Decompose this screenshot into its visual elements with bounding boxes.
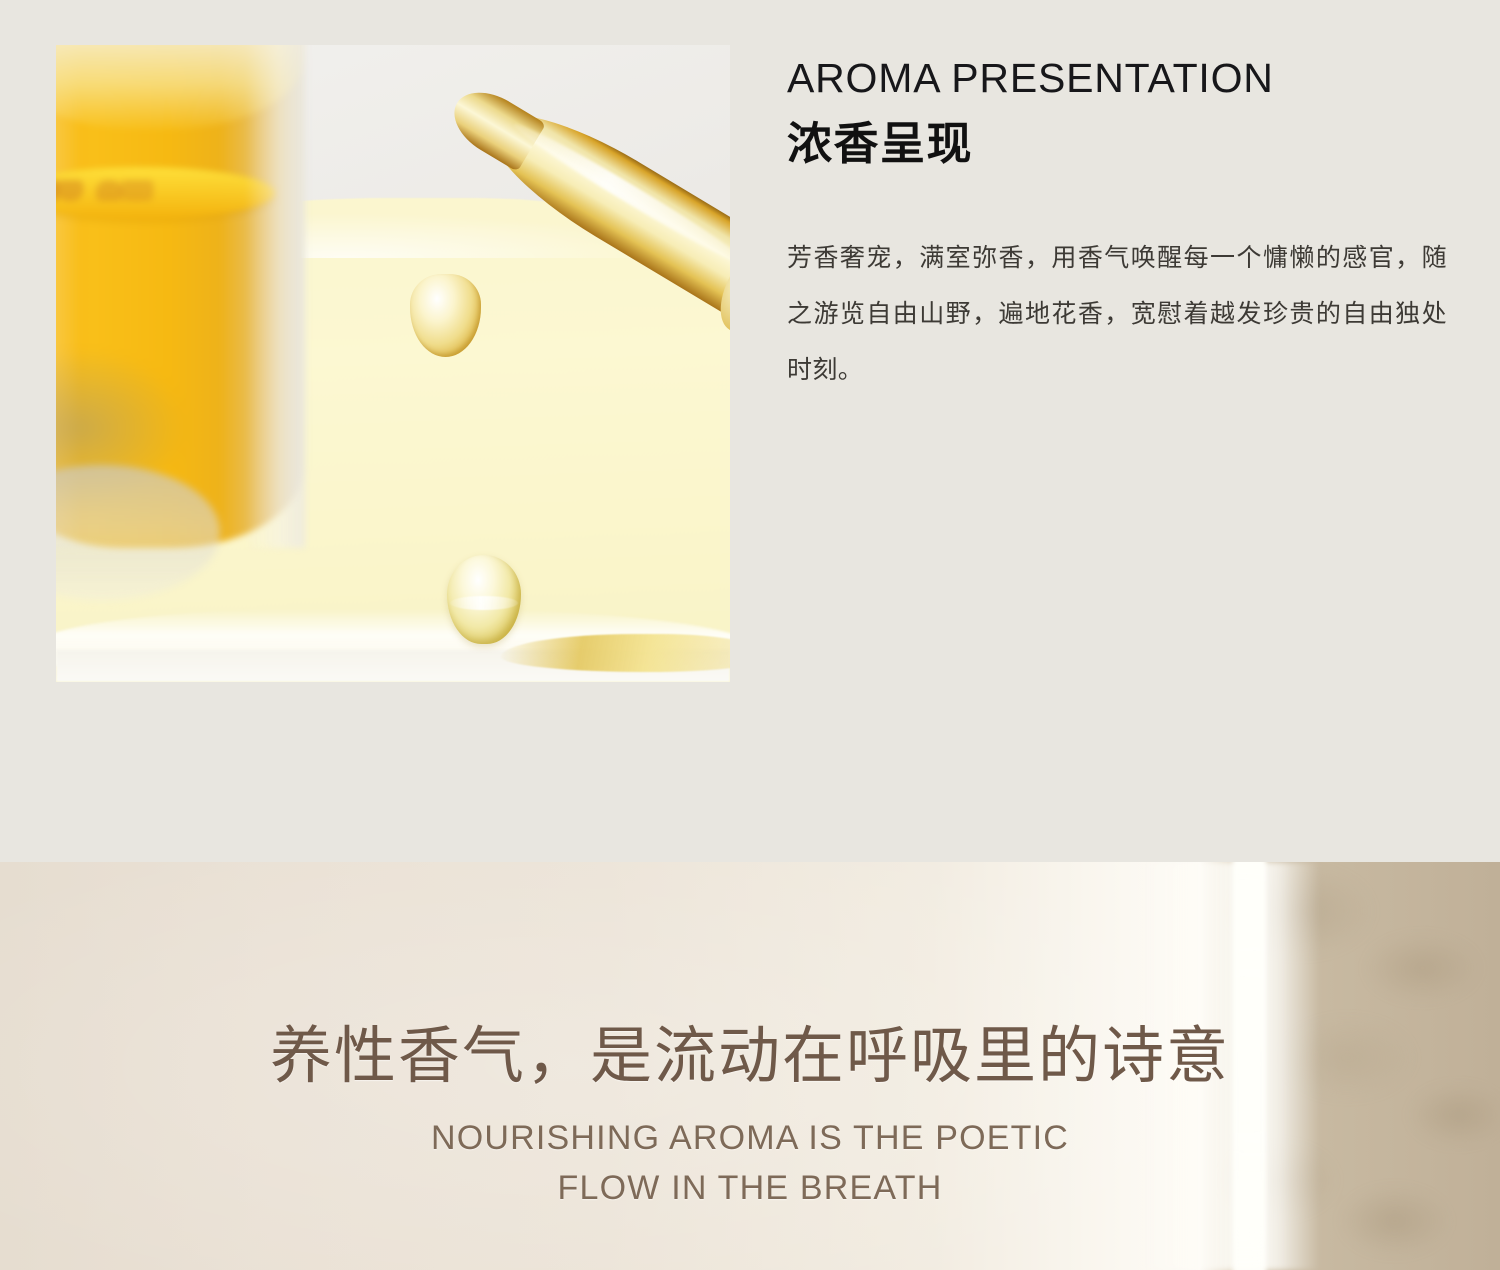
poetic-flow-banner: 养性香气，是流动在呼吸里的诗意 NOURISHING AROMA IS THE … (0, 862, 1500, 1270)
section-body-copy: 芳香奢宠，满室弥香，用香气唤醒每一个慵懒的感官，随之游览自由山野，遍地花香，宽慰… (787, 230, 1447, 398)
pipette-glass (435, 59, 730, 391)
oil-jar (56, 45, 305, 548)
section-eyebrow-en: AROMA PRESENTATION (787, 56, 1457, 102)
aroma-text-column: AROMA PRESENTATION 浓香呈现 芳香奢宠，满室弥香，用香气唤醒每… (787, 56, 1457, 423)
aroma-presentation-section: AROMA PRESENTATION 浓香呈现 芳香奢宠，满室弥香，用香气唤醒每… (0, 0, 1500, 862)
banner-headline-en-line1: NOURISHING AROMA IS THE POETIC (431, 1113, 1069, 1163)
banner-headline-cn: 养性香气，是流动在呼吸里的诗意 (270, 1024, 1230, 1091)
product-photo (56, 45, 730, 682)
product-detail-page: AROMA PRESENTATION 浓香呈现 芳香奢宠，满室弥香，用香气唤醒每… (0, 0, 1500, 1270)
banner-text-block: 养性香气，是流动在呼吸里的诗意 NOURISHING AROMA IS THE … (0, 862, 1500, 1270)
banner-headline-en-line2: FLOW IN THE BREATH (431, 1163, 1069, 1213)
section-title-cn: 浓香呈现 (787, 119, 1457, 169)
jar-right-glass (245, 45, 306, 548)
banner-headline-en: NOURISHING AROMA IS THE POETIC FLOW IN T… (431, 1113, 1069, 1213)
jar-rim-speckles (56, 180, 154, 201)
resting-droplet-highlight (450, 596, 517, 610)
product-photo-inner (56, 45, 730, 682)
